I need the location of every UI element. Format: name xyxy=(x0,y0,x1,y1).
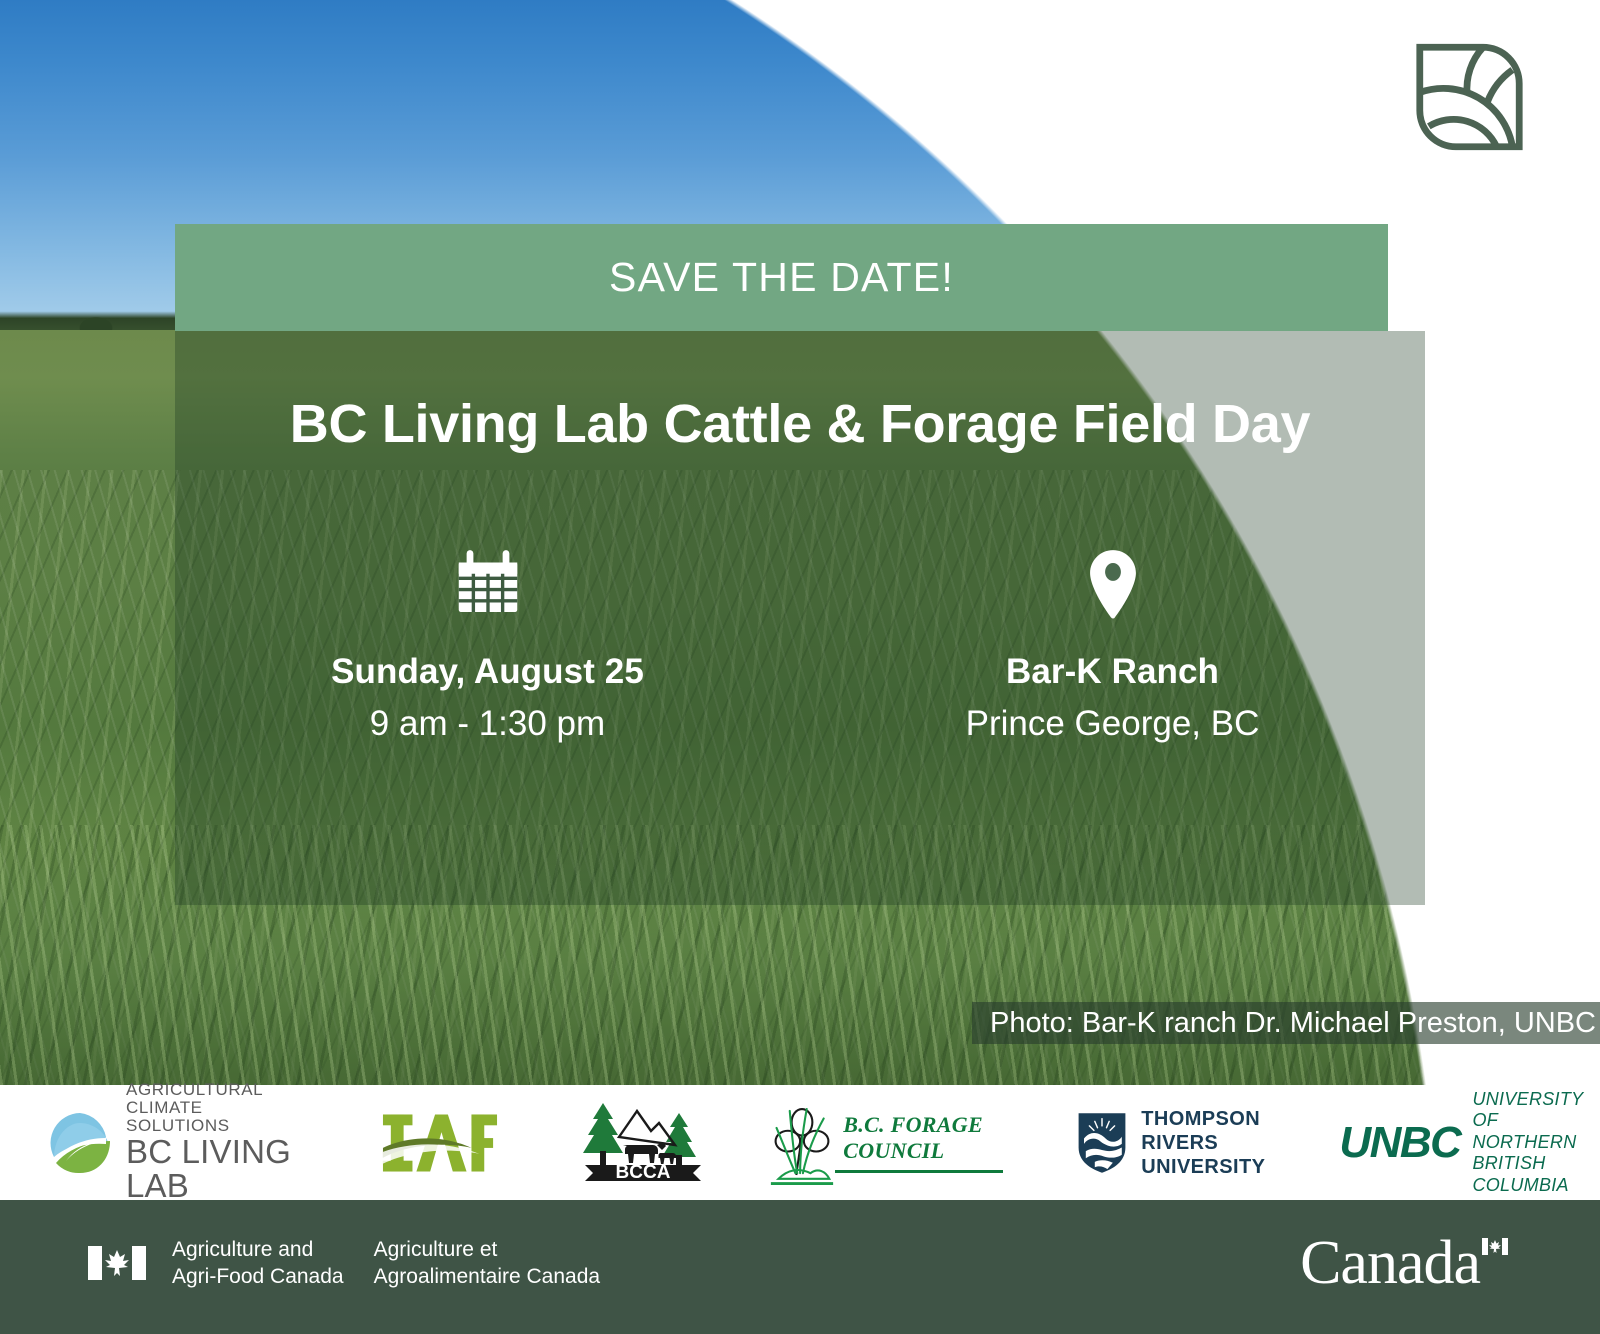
event-city: Prince George, BC xyxy=(966,704,1260,744)
forage-clover-icon xyxy=(769,1098,835,1188)
partner-logo-unbc: UNBC UNIVERSITY OF NORTHERN BRITISH COLU… xyxy=(1339,1089,1600,1197)
canada-wordmark-text: Canada xyxy=(1300,1232,1480,1294)
department-signature: Agriculture and Agri-Food Canada Agricul… xyxy=(88,1236,600,1291)
map-pin-icon xyxy=(1088,546,1138,624)
partner-logo-bc-living-lab: AGRICULTURAL CLIMATE SOLUTIONS BC LIVING… xyxy=(48,1081,301,1204)
tru-line3: UNIVERSITY xyxy=(1141,1155,1265,1179)
bc-forage-council-text: B.C. FORAGE COUNCIL xyxy=(835,1112,1003,1173)
unbc-line2: NORTHERN BRITISH COLUMBIA xyxy=(1472,1132,1600,1197)
event-time: 9 am - 1:30 pm xyxy=(370,704,605,744)
bc-living-lab-text: AGRICULTURAL CLIMATE SOLUTIONS BC LIVING… xyxy=(126,1081,301,1204)
partner-logo-thompson-rivers-university: THOMPSON RIVERS UNIVERSITY xyxy=(1075,1107,1265,1179)
bc-forage-council-line1: B.C. FORAGE xyxy=(843,1112,1003,1138)
canada-wordmark: Canada xyxy=(1300,1232,1508,1294)
save-the-date-label: SAVE THE DATE! xyxy=(609,254,954,301)
hero-photo-area: SAVE THE DATE! BC Living Lab Cattle & Fo… xyxy=(0,0,1600,1085)
bc-living-lab-tagline: AGRICULTURAL CLIMATE SOLUTIONS xyxy=(126,1081,301,1135)
bc-forage-council-rule xyxy=(835,1170,1003,1173)
event-details-row: Sunday, August 25 9 am - 1:30 pm Bar-K R… xyxy=(175,546,1425,744)
bc-forage-council-line2: COUNCIL xyxy=(843,1138,1003,1164)
department-name-en: Agriculture and Agri-Food Canada xyxy=(172,1236,344,1291)
field-leaf-icon xyxy=(1413,38,1526,156)
event-date-block: Sunday, August 25 9 am - 1:30 pm xyxy=(175,546,800,744)
unbc-wordmark: UNBC xyxy=(1339,1118,1460,1168)
photo-credit: Photo: Bar-K ranch Dr. Michael Preston, … xyxy=(972,1002,1600,1044)
unbc-text: UNIVERSITY OF NORTHERN BRITISH COLUMBIA xyxy=(1472,1089,1600,1197)
event-details-panel: BC Living Lab Cattle & Forage Field Day xyxy=(175,331,1425,905)
iaf-wordmark-icon xyxy=(381,1108,499,1178)
calendar-icon xyxy=(452,546,524,624)
canada-flag-icon xyxy=(1482,1238,1508,1255)
partner-logo-bar: AGRICULTURAL CLIMATE SOLUTIONS BC LIVING… xyxy=(0,1085,1600,1200)
poster: SAVE THE DATE! BC Living Lab Cattle & Fo… xyxy=(0,0,1600,1334)
event-title: BC Living Lab Cattle & Forage Field Day xyxy=(175,393,1425,455)
save-the-date-banner: SAVE THE DATE! xyxy=(175,224,1388,331)
government-footer: Agriculture and Agri-Food Canada Agricul… xyxy=(0,1200,1600,1334)
event-date: Sunday, August 25 xyxy=(331,652,644,692)
event-location-block: Bar-K Ranch Prince George, BC xyxy=(800,546,1425,744)
canada-flag-icon xyxy=(88,1246,146,1280)
department-fr-line2: Agroalimentaire Canada xyxy=(374,1263,600,1290)
svg-text:BCCA: BCCA xyxy=(616,1162,671,1183)
partner-logo-bc-forage-council: B.C. FORAGE COUNCIL xyxy=(769,1098,1003,1188)
unbc-line1: UNIVERSITY OF xyxy=(1472,1089,1600,1132)
department-name-fr: Agriculture et Agroalimentaire Canada xyxy=(374,1236,600,1291)
department-fr-line1: Agriculture et xyxy=(374,1236,600,1263)
tru-shield-icon xyxy=(1075,1111,1129,1175)
partner-logo-bcca: BCCA xyxy=(579,1095,707,1191)
department-en-line1: Agriculture and xyxy=(172,1236,344,1263)
bc-living-lab-name: BC LIVING LAB xyxy=(126,1135,301,1204)
tru-text: THOMPSON RIVERS UNIVERSITY xyxy=(1141,1107,1265,1179)
tru-line2: RIVERS xyxy=(1141,1131,1265,1155)
bcca-cattle-mountain-icon: BCCA xyxy=(579,1095,707,1191)
partner-logo-iaf xyxy=(381,1108,499,1178)
globe-leaf-icon xyxy=(48,1111,112,1175)
department-en-line2: Agri-Food Canada xyxy=(172,1263,344,1290)
tru-line1: THOMPSON xyxy=(1141,1107,1265,1131)
event-venue: Bar-K Ranch xyxy=(1006,652,1219,692)
